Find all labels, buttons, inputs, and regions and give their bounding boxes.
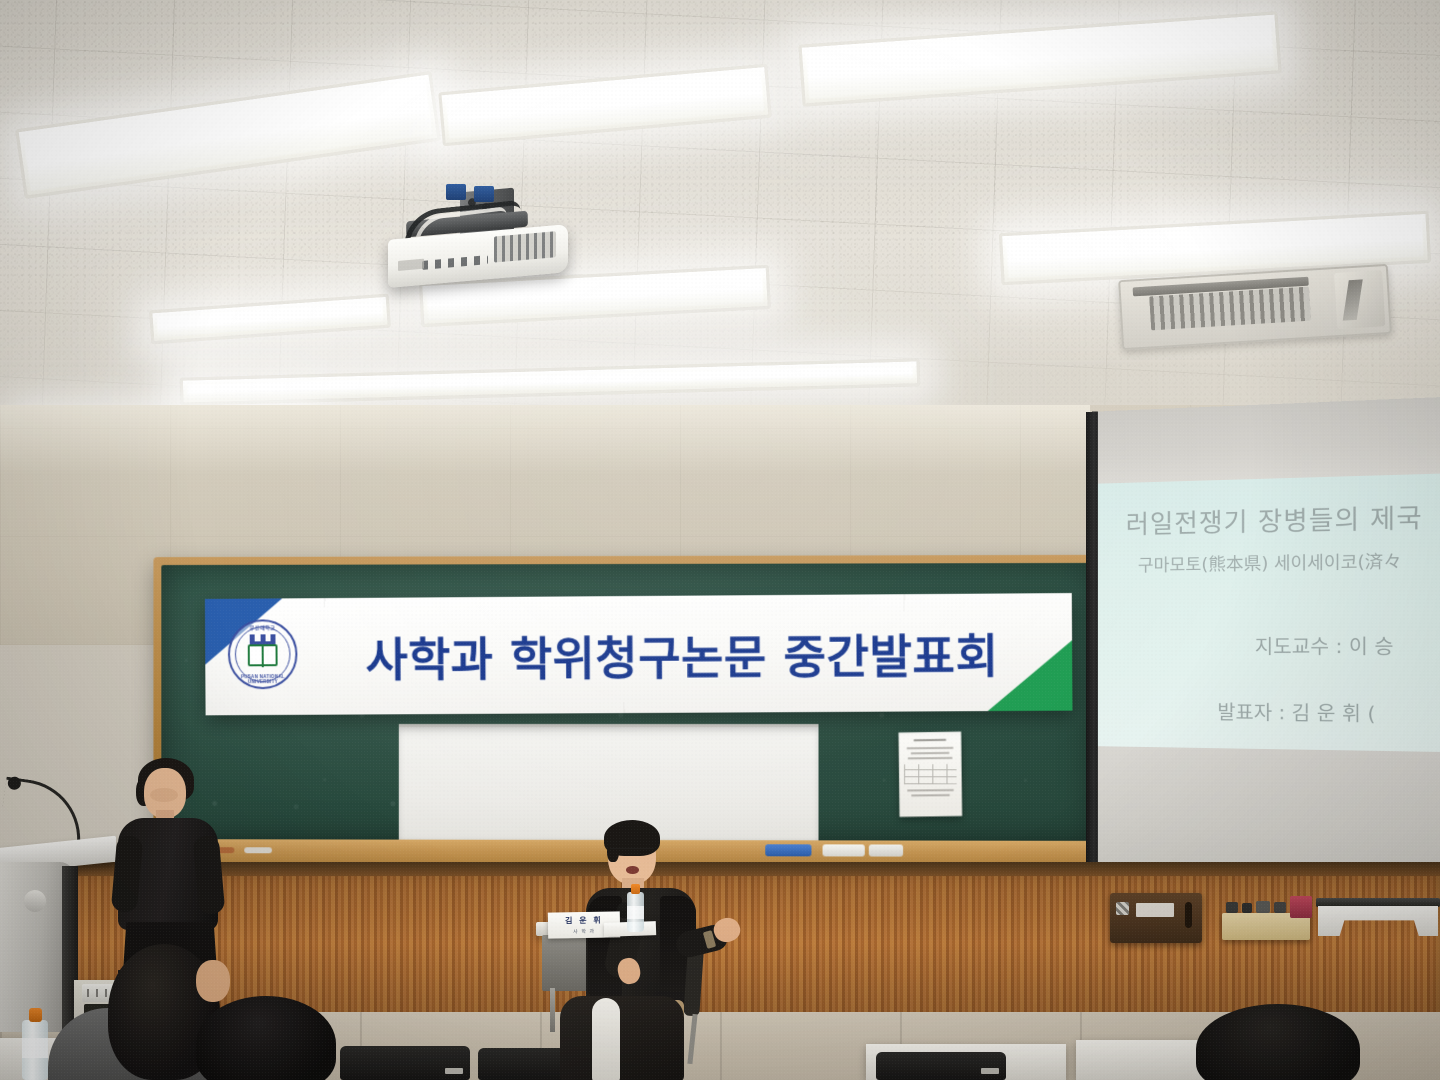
presenter-mouth: [626, 866, 639, 874]
slide-subtitle: 구마모토(熊本県) 세이세이코(済々: [1138, 544, 1440, 577]
event-banner: 부산대학교 PUSAN NATIONAL UNIVERSITY 사학과 학위청구…: [205, 593, 1073, 715]
wall-av-box: [1110, 893, 1202, 943]
board-eraser-white-2: [869, 844, 903, 856]
audience-chair: [340, 1046, 470, 1080]
lectern-knob: [24, 890, 46, 912]
audience-member-hand: [196, 960, 230, 1002]
logo-text-korean: 부산대학교: [228, 624, 297, 631]
projection-screen: 러일전쟁기 장병들의 제국 구마모토(熊本県) 세이세이코(済々 지도교수 : …: [1086, 396, 1440, 905]
slide-title: 러일전쟁기 장병들의 제국: [1126, 494, 1440, 541]
university-logo: 부산대학교 PUSAN NATIONAL UNIVERSITY: [228, 619, 298, 689]
moderator-right-arm: [193, 835, 226, 915]
presenter-desk-leg: [550, 988, 555, 1032]
nameplate-subtitle: 사 학 과: [573, 928, 595, 935]
logo-book-icon: [248, 645, 278, 667]
banner-title: 사학과 학위청구논문 중간발표회: [312, 619, 1053, 690]
projected-slide: 러일전쟁기 장병들의 제국 구마모토(熊本県) 세이세이코(済々 지도교수 : …: [1098, 473, 1440, 752]
water-bottle-foreground: [22, 1008, 48, 1080]
board-eraser-blue: [765, 844, 811, 856]
projector-vga-plug: [446, 184, 466, 200]
wall-rail: [1316, 898, 1440, 907]
av-box-label: [1136, 903, 1174, 917]
foreground-bag: [560, 996, 684, 1080]
slide-advisor-line: 지도교수 : 이 승: [1255, 630, 1440, 659]
notice-sheet: [899, 732, 963, 817]
microphone-head-icon: [7, 776, 22, 791]
board-eraser-white: [823, 844, 865, 856]
chalk-stick-2: [244, 847, 272, 853]
gooseneck-microphone: [0, 777, 88, 850]
audience-chair: [876, 1052, 1006, 1080]
slide-presenter-line: 발표자 : 김 운 휘 (: [1217, 697, 1440, 729]
projector-label: [398, 259, 424, 271]
nameplate-name: 김 운 휘: [565, 915, 603, 927]
red-box-item: [1290, 896, 1312, 918]
bottle-cap-icon: [631, 884, 640, 894]
moderator-face-shading: [150, 788, 178, 802]
av-box-speaker-grille: [1116, 902, 1129, 915]
logo-text-english: PUSAN NATIONAL UNIVERSITY: [228, 674, 297, 684]
projector-ports: [422, 255, 488, 270]
notice-table: [904, 764, 957, 785]
bottle-cap-icon: [29, 1008, 42, 1022]
ac-side-panel: [1334, 270, 1385, 329]
ceiling-projector: [388, 190, 568, 290]
water-bottle-desk: [627, 884, 644, 932]
screen-top-band: [1098, 396, 1440, 483]
av-box-handle: [1185, 902, 1192, 928]
presenter-brow: [610, 848, 654, 857]
projector-vent: [494, 231, 556, 262]
upper-wall-highlight: [0, 405, 1090, 475]
lecture-hall-photo: 부산대학교 PUSAN NATIONAL UNIVERSITY 사학과 학위청구…: [0, 0, 1440, 1080]
bottle-label: [627, 906, 644, 919]
foreground-bag-strap: [592, 998, 620, 1080]
projector-vga-plug-2: [474, 186, 494, 202]
